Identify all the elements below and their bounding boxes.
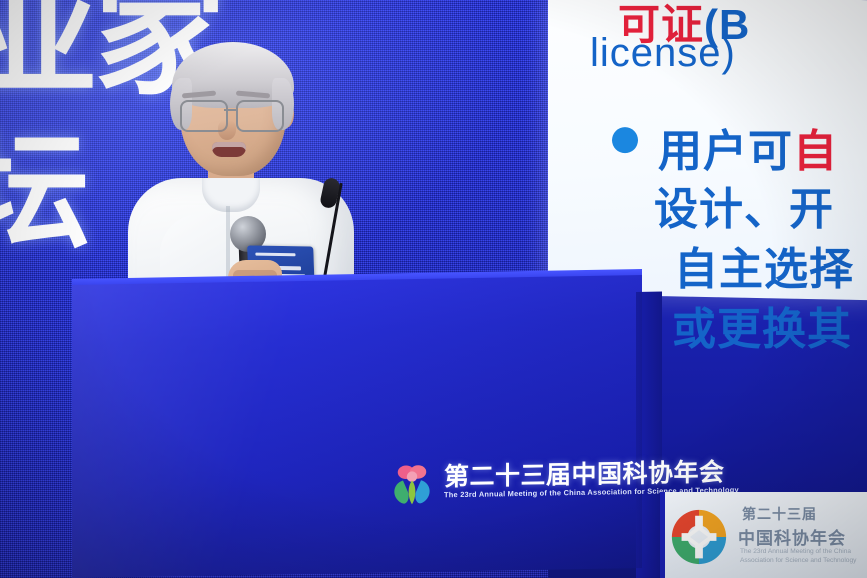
slide-line-c-blue: 用户可 xyxy=(658,127,793,176)
screenshot-stage: 业家 坛 可证(B license) 用户可自 设计、开 自主选择 或更换其 xyxy=(0,0,867,578)
watermark-chinese-line-1: 第二十三届 xyxy=(742,504,817,524)
podium-side-panel xyxy=(636,292,662,578)
podium-branding: 第二十三届中国科协年会 The 23rd Annual Meeting of t… xyxy=(388,454,650,519)
watermark-chinese-line-2: 中国科协年会 xyxy=(738,524,846,549)
led-wall-text-line-2: 坛 xyxy=(0,140,86,246)
glasses-bridge xyxy=(224,109,238,111)
bullet-dot-icon xyxy=(612,127,638,153)
speaker-figure xyxy=(120,38,360,298)
slide-line-license-en: license) xyxy=(590,31,736,76)
mic-flag-line-1 xyxy=(255,253,295,257)
speaker-nose xyxy=(218,120,236,140)
glasses-lens-right xyxy=(236,100,284,132)
slide-bullet-line-4: 或更换其 xyxy=(672,293,852,357)
presentation-slide: 可证(B license) 用户可自 设计、开 自主选择 或更换其 xyxy=(548,0,867,300)
slide-bullet-line-3: 自主选择 xyxy=(674,233,854,297)
watermark-emblem-icon xyxy=(668,506,730,568)
slide-line-c-red: 自 xyxy=(793,127,838,176)
slide-bullet-line-2: 设计、开 xyxy=(654,173,834,237)
cast-emblem-icon xyxy=(388,459,436,510)
watermark-left-bar xyxy=(660,492,665,578)
slide-bullet-line-1: 用户可自 xyxy=(658,115,838,179)
watermark-english: The 23rd Annual Meeting of the China Ass… xyxy=(740,547,860,565)
podium-front-panel xyxy=(72,275,642,578)
watermark-panel: 第二十三届 中国科协年会 The 23rd Annual Meeting of … xyxy=(660,492,867,578)
speaker-mouth xyxy=(212,142,246,157)
